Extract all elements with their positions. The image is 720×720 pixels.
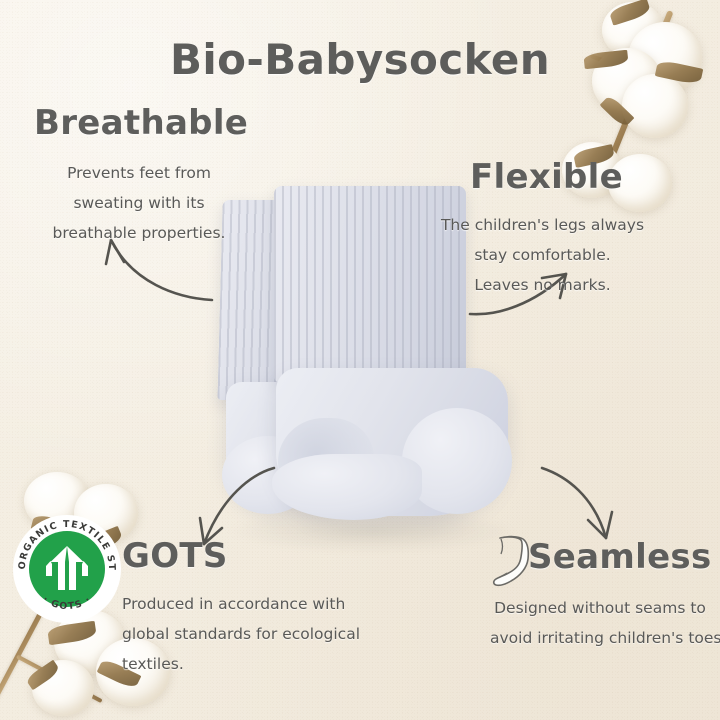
feature-gots-body: Produced in accordance with global stand… [122,589,367,680]
feature-gots: GOTS Produced in accordance with global … [122,536,367,680]
feature-seamless: Seamless Designed without seams to avoid… [528,537,712,653]
gots-certification-badge: GLOBAL ORGANIC TEXTILE STANDARD · GOTS · [12,514,122,624]
feature-seamless-heading: Seamless [528,537,712,577]
feature-flexible-line-1: The children's legs always [440,210,645,240]
feature-seamless-line-2: avoid irritating children's toes. [490,623,710,653]
feature-flexible-line-2: stay comfortable. [440,240,645,270]
feature-gots-line-2: global standards for ecological [122,619,367,649]
feature-flexible-body: The children's legs always stay comforta… [440,210,645,301]
feature-breathable-line-1: Prevents feet from [34,158,244,188]
feature-breathable-line-2: sweating with its [34,188,244,218]
feature-flexible-heading: Flexible [470,157,645,197]
feature-seamless-body: Designed without seams to avoid irritati… [490,593,710,653]
feature-flexible: Flexible The children's legs always stay… [470,157,645,301]
page-title: Bio-Babysocken [0,35,720,84]
feature-flexible-line-3: Leaves no marks. [440,270,645,300]
feature-breathable-body: Prevents feet from sweating with its bre… [34,158,244,249]
feature-gots-line-1: Produced in accordance with [122,589,367,619]
feature-gots-heading: GOTS [122,536,367,576]
feature-breathable-heading: Breathable [34,103,248,143]
feature-seamless-line-1: Designed without seams to [490,593,710,623]
infographic-canvas: Bio-Babysocken Brea [0,0,720,720]
feature-gots-line-3: textiles. [122,649,367,679]
feature-breathable: Breathable Prevents feet from sweating w… [34,103,248,249]
feature-breathable-line-3: breathable properties. [34,218,244,248]
